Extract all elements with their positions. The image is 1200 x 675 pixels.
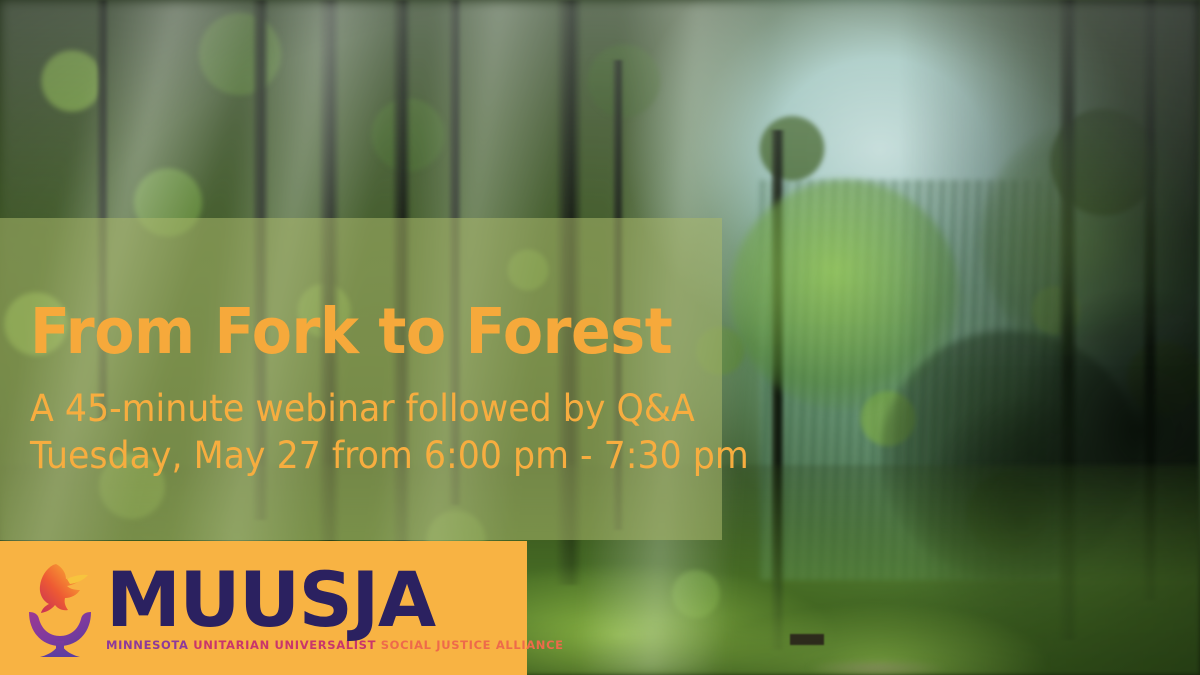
event-title: From Fork to Forest <box>30 300 672 363</box>
flaming-chalice-icon <box>22 557 98 661</box>
promo-banner: From Fork to Forest A 45-minute webinar … <box>0 0 1200 675</box>
logo-wordmark: MUUSJA <box>106 565 559 635</box>
event-subtitle: A 45-minute webinar followed by Q&A <box>30 385 679 432</box>
logo-bar: MUUSJA MINNESOTA UNITARIAN UNIVERSALIST … <box>0 541 527 675</box>
event-text-block: From Fork to Forest A 45-minute webinar … <box>30 300 720 480</box>
event-datetime: Tuesday, May 27 from 6:00 pm - 7:30 pm <box>30 432 679 479</box>
logo-text-group: MUUSJA MINNESOTA UNITARIAN UNIVERSALIST … <box>106 565 564 651</box>
